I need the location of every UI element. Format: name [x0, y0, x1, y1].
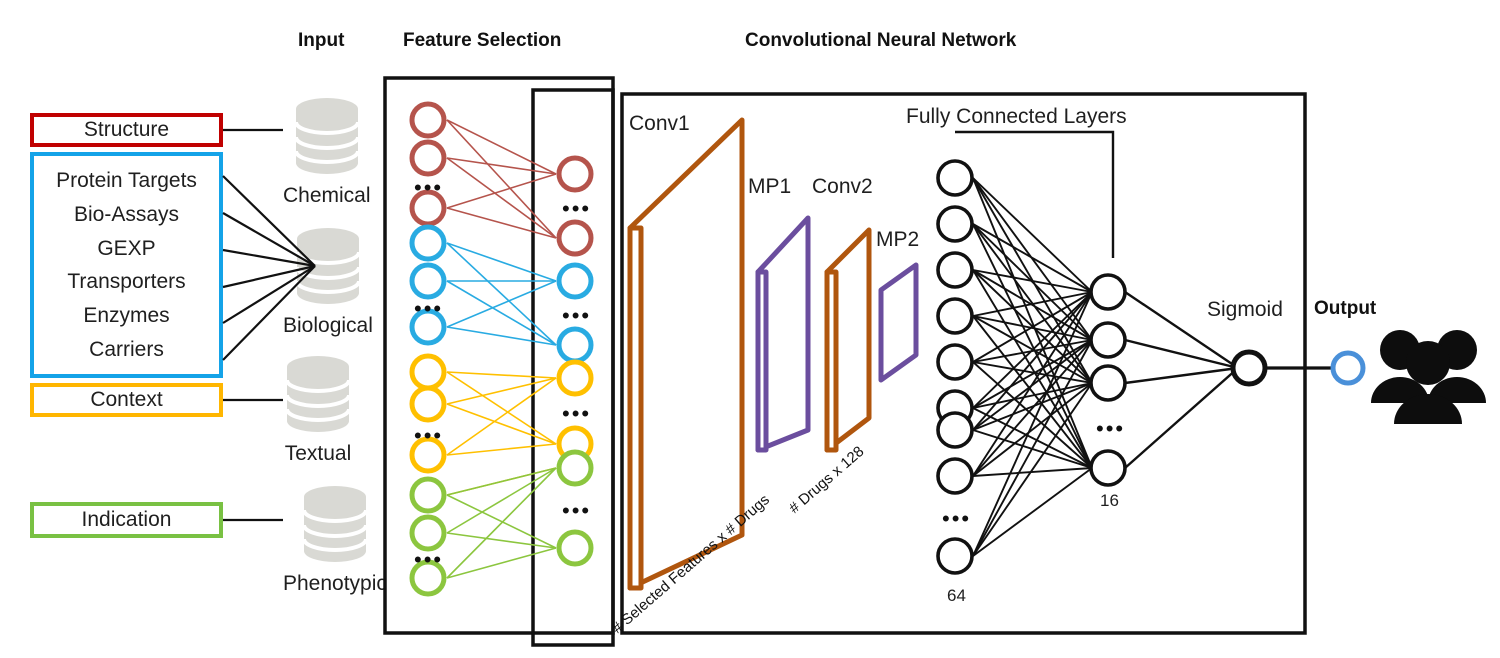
fc-node — [938, 299, 972, 333]
fc-ellipsis-layer1: ••• — [942, 508, 971, 530]
database-icon — [283, 355, 353, 433]
fs-left-nodes-structure-group[interactable] — [412, 104, 444, 224]
fc-bracket — [955, 132, 1113, 258]
fs-node — [412, 104, 444, 136]
fs-node — [412, 227, 444, 259]
cnn-dim-label-conv1: # Selected Features x # Drugs — [609, 491, 773, 637]
cnn-layer-conv2[interactable] — [827, 230, 869, 450]
fc-node — [938, 391, 972, 425]
fc-node — [938, 161, 972, 195]
cnn-label-mp2: MP2 — [876, 228, 919, 252]
fs-ellipsis-left-biological: ••• — [414, 298, 443, 320]
sigmoid-node[interactable] — [1233, 352, 1265, 384]
fs-left-nodes-indication-group[interactable] — [412, 479, 444, 594]
header-input: Input — [298, 30, 344, 52]
fc-layer2-nodes[interactable] — [1091, 275, 1125, 485]
fs-node — [559, 532, 591, 564]
database-icon — [292, 97, 362, 175]
fc-node — [938, 253, 972, 287]
fc-node — [1091, 451, 1125, 485]
input-label-indication: Indication — [82, 508, 172, 532]
fc-node — [1091, 275, 1125, 309]
input-box-indication[interactable]: Indication — [30, 502, 223, 538]
cnn-label-mp1: MP1 — [748, 175, 791, 199]
fs-edges-context-group — [447, 372, 556, 495]
input-box-structure[interactable]: Structure — [30, 113, 223, 147]
fs-edges-biological-group — [447, 243, 556, 345]
fc-node — [938, 345, 972, 379]
database-label-biological: Biological — [283, 314, 373, 338]
fs-ellipsis-right-structure: ••• — [562, 198, 591, 220]
header-cnn: Convolutional Neural Network — [745, 30, 1016, 52]
cnn-layer-conv1[interactable] — [630, 120, 742, 588]
cnn-layer-mp2[interactable] — [881, 265, 916, 380]
fs-left-nodes-context-group[interactable] — [412, 356, 444, 471]
fs-ellipsis-left-structure: ••• — [414, 177, 443, 199]
fs-ellipsis-left-context: ••• — [414, 425, 443, 447]
fs-left-nodes-biological-group[interactable] — [412, 227, 444, 343]
fs-node — [559, 222, 591, 254]
input-label-structure: Structure — [84, 118, 169, 142]
fs-edges-structure-group — [447, 120, 556, 238]
fs-node — [559, 265, 591, 297]
cnn-layer-mp1[interactable] — [758, 218, 808, 450]
fc-node — [1091, 366, 1125, 400]
fs-node — [559, 362, 591, 394]
input-item-transporters: Transporters — [67, 271, 185, 292]
database-icon — [300, 485, 370, 563]
feature-selection-selected-box — [533, 90, 613, 645]
input-item-enzymes: Enzymes — [83, 305, 169, 326]
fc-node — [1091, 323, 1125, 357]
fs-node — [412, 265, 444, 297]
output-node[interactable] — [1333, 353, 1363, 383]
database-textual: Textual — [283, 355, 353, 466]
fc-title: Fully Connected Layers — [906, 105, 1127, 129]
fs-node — [559, 329, 591, 361]
fs-node — [412, 142, 444, 174]
fs-node — [559, 158, 591, 190]
header-output: Output — [1314, 298, 1376, 320]
header-feature-selection: Feature Selection — [403, 30, 561, 52]
database-phenotypic: Phenotypic — [283, 485, 387, 596]
input-box-context[interactable]: Context — [30, 383, 223, 417]
fs-node — [559, 428, 591, 460]
database-label-chemical: Chemical — [283, 184, 371, 208]
fs-node — [412, 356, 444, 388]
input-item-carriers: Carriers — [89, 339, 164, 360]
fc-ellipsis-layer2: ••• — [1096, 418, 1125, 440]
fs-node — [559, 452, 591, 484]
fc-layer1-size-label: 64 — [947, 586, 966, 606]
input-box-biological[interactable]: Protein Targets Bio-Assays GEXP Transpor… — [30, 152, 223, 378]
database-chemical: Chemical — [283, 97, 371, 208]
diagram-canvas — [0, 0, 1500, 658]
sigmoid-label: Sigmoid — [1207, 298, 1283, 322]
cnn-dim-label-conv2: # Drugs x 128 — [786, 443, 868, 517]
input-label-context: Context — [90, 388, 162, 412]
fs-ellipsis-left-indication: ••• — [414, 549, 443, 571]
database-biological: Biological — [283, 227, 373, 338]
cnn-label-conv2: Conv2 — [812, 175, 873, 199]
fc-node — [938, 459, 972, 493]
fs-ellipsis-right-indication: ••• — [562, 500, 591, 522]
fs-node — [412, 517, 444, 549]
cnn-label-conv1: Conv1 — [629, 112, 690, 136]
fs-node — [412, 479, 444, 511]
people-group-icon — [1371, 330, 1486, 424]
input-item-bio-assays: Bio-Assays — [74, 204, 179, 225]
fs-edges-indication-group — [447, 468, 556, 578]
input-item-protein-targets: Protein Targets — [56, 170, 197, 191]
input-item-gexp: GEXP — [97, 238, 155, 259]
fs-ellipsis-right-biological: ••• — [562, 305, 591, 327]
database-label-phenotypic: Phenotypic — [283, 572, 387, 596]
fs-node — [412, 388, 444, 420]
fc-node — [938, 539, 972, 573]
database-label-textual: Textual — [283, 442, 353, 466]
fc-edges-layer1-layer2 — [973, 178, 1092, 556]
fs-ellipsis-right-context: ••• — [562, 403, 591, 425]
cnn-outer-box — [622, 94, 1305, 633]
database-icon — [293, 227, 363, 305]
fc-layer2-size-label: 16 — [1100, 491, 1119, 511]
fc-node — [938, 207, 972, 241]
fc-node — [938, 413, 972, 447]
